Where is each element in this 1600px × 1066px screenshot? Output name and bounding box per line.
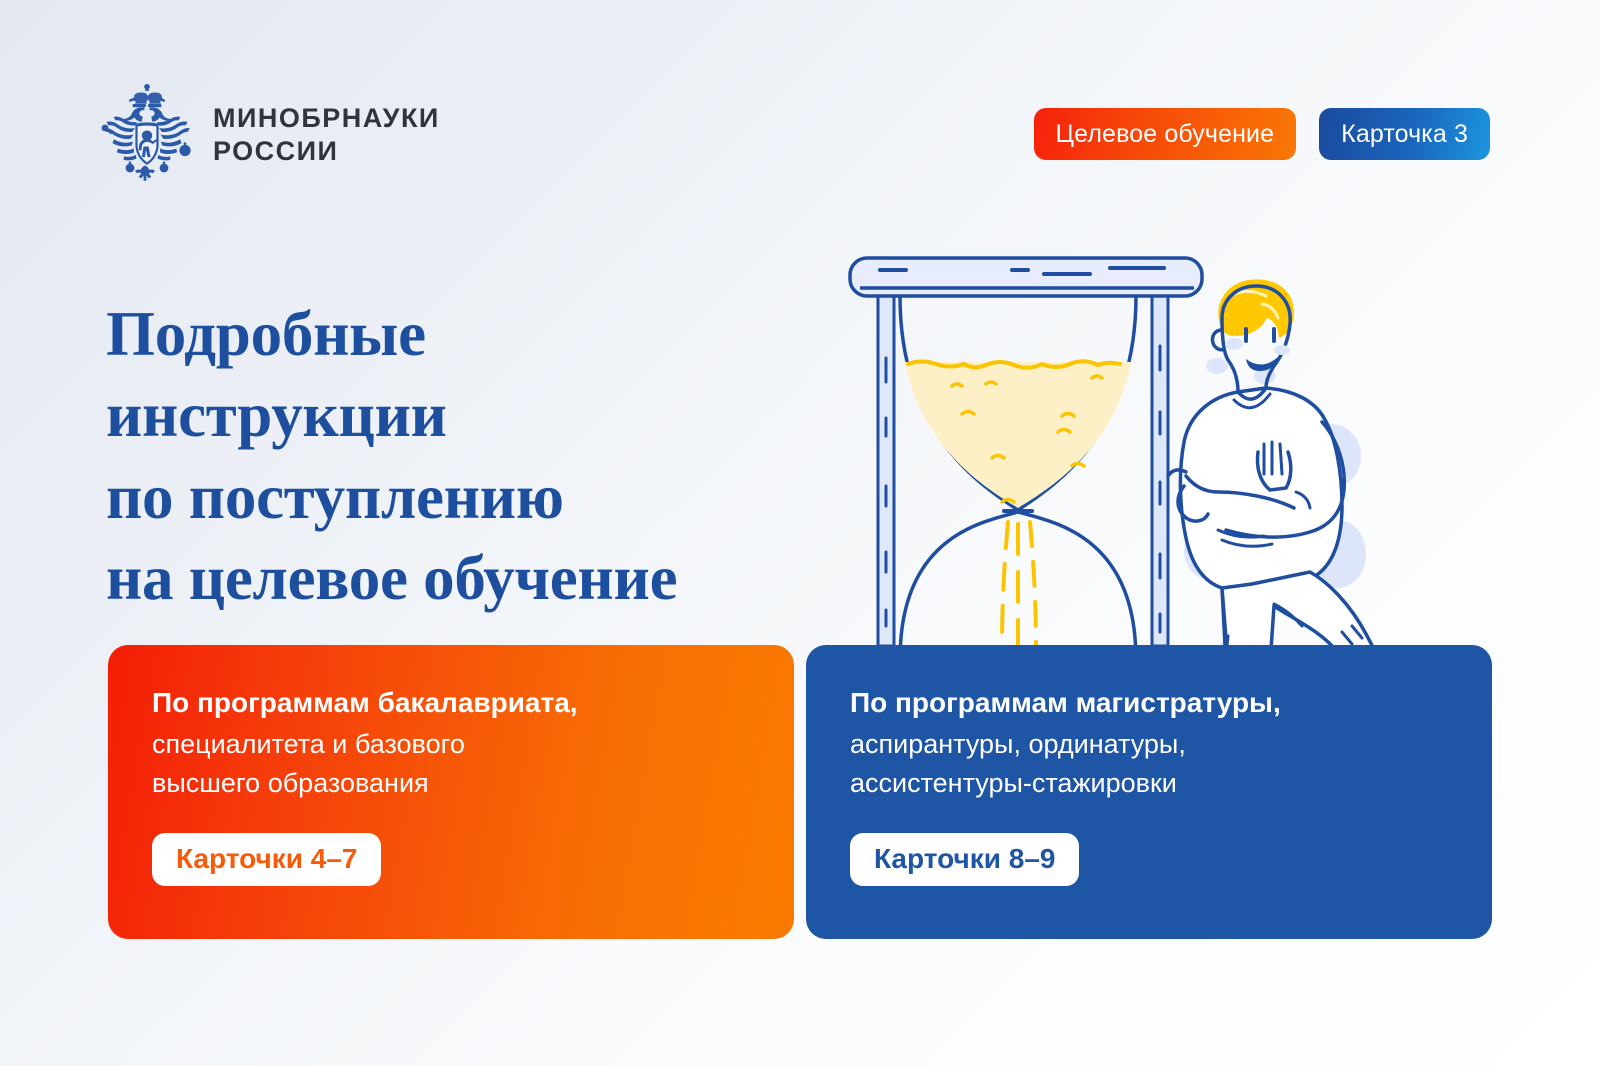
ministry-name-label: МИНОБРНАУКИ РОССИИ — [213, 102, 440, 168]
master-programs-card[interactable]: По программам магистратуры, аспирантуры,… — [806, 645, 1492, 939]
master-card-title: По программам магистратуры, — [850, 683, 1448, 723]
russian-coat-of-arms-icon — [99, 80, 195, 190]
master-card-subtitle: аспирантуры, ординатуры, ассистентуры-ст… — [850, 725, 1448, 804]
badge-topic[interactable]: Целевое обучение — [1034, 108, 1297, 160]
bachelor-card-pill[interactable]: Карточки 4–7 — [152, 833, 381, 886]
page-title: Подробные инструкции по поступлению на ц… — [106, 294, 866, 619]
bachelor-card-subtitle: специалитета и базового высшего образова… — [152, 725, 750, 804]
infographic-slide: МИНОБРНАУКИ РОССИИ Целевое обучение Карт… — [0, 0, 1600, 1066]
master-card-pill[interactable]: Карточки 8–9 — [850, 833, 1079, 886]
bachelor-card-title: По программам бакалавриата, — [152, 683, 750, 723]
bachelor-programs-card[interactable]: По программам бакалавриата, специалитета… — [108, 645, 794, 939]
badge-card-number[interactable]: Карточка 3 — [1319, 108, 1490, 160]
ministry-logo: МИНОБРНАУКИ РОССИИ — [99, 80, 440, 190]
hourglass-with-leaning-man-illustration — [822, 186, 1462, 666]
card-row: По программам бакалавриата, специалитета… — [108, 645, 1492, 939]
badge-group: Целевое обучение Карточка 3 — [1034, 108, 1490, 160]
